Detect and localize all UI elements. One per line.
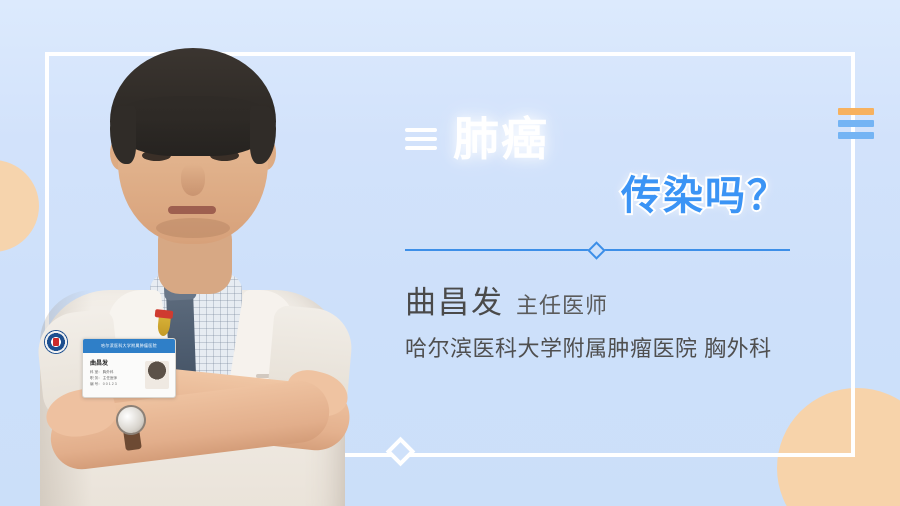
id-badge-photo: [145, 361, 169, 389]
frame-diamond-icon: [386, 437, 416, 467]
id-badge-header-text: 哈尔滨医科大学附属肿瘤医院: [83, 339, 175, 353]
page-title: 肺癌: [453, 116, 549, 162]
doctor-info: 曲昌发 主任医师 哈尔滨医科大学附属肿瘤医院 胸外科: [405, 284, 805, 363]
text-content: 肺癌 传染吗？ 曲昌发 主任医师 哈尔滨医科大学附属肿瘤医院 胸外科: [405, 108, 805, 363]
id-badge-name: 曲昌发: [90, 358, 108, 367]
mouth: [168, 206, 216, 214]
bar-blue-1: [838, 120, 874, 127]
title-row: 肺癌: [405, 108, 805, 170]
bar-orange: [838, 108, 874, 115]
subtitle-row: 传染吗？: [405, 176, 805, 216]
doctor-name: 曲昌发: [405, 284, 504, 321]
nose: [181, 164, 205, 196]
decorative-bars: [838, 108, 874, 144]
divider-diamond-icon: [587, 241, 605, 259]
emblem-cross-icon: [53, 338, 59, 346]
doctor-name-row: 曲昌发 主任医师: [405, 284, 805, 321]
page-subtitle: 传染吗？: [621, 174, 789, 218]
hamburger-line: [405, 146, 437, 150]
divider: [405, 242, 790, 258]
doctor-title: 主任医师: [516, 288, 608, 320]
hamburger-line: [405, 128, 437, 132]
id-badge: 哈尔滨医科大学附属肿瘤医院 曲昌发 科 室： 胸外科 职 务： 主任医师 编 号…: [82, 338, 176, 398]
hamburger-line: [405, 137, 437, 141]
id-badge-details: 科 室： 胸外科 职 务： 主任医师 编 号： 0 0 1 2 3: [90, 369, 146, 387]
hair-fringe: [122, 96, 264, 130]
bar-blue-2: [838, 132, 874, 139]
chin-shadow: [156, 218, 230, 238]
id-badge-header: 哈尔滨医科大学附属肿瘤医院: [83, 339, 175, 353]
doctor-portrait: 哈尔滨医科大学附属肿瘤医院 曲昌发 科 室： 胸外科 职 务： 主任医师 编 号…: [18, 22, 363, 506]
decorative-circle-bottom-right: [777, 388, 900, 506]
hamburger-icon: [405, 128, 437, 150]
doctor-affiliation: 哈尔滨医科大学附属肿瘤医院 胸外科: [405, 331, 805, 363]
id-badge-detail-line: 编 号： 0 0 1 2 3: [90, 381, 146, 387]
thumbnail-canvas: 哈尔滨医科大学附属肿瘤医院 曲昌发 科 室： 胸外科 职 务： 主任医师 编 号…: [0, 0, 900, 506]
